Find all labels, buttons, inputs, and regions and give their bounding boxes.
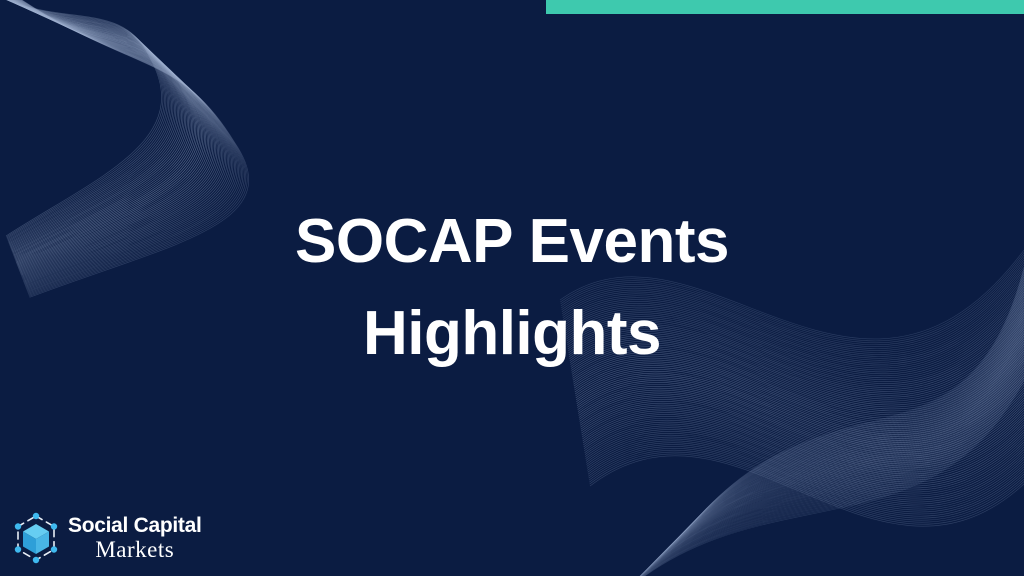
slide-canvas: SOCAP Events Highlights — [0, 0, 1024, 576]
brand-wordmark: Social Capital Markets — [68, 515, 202, 561]
brand-logo: Social Capital Markets — [12, 512, 202, 564]
title-line-2: Highlights — [0, 288, 1024, 380]
accent-bar — [546, 0, 1024, 14]
brand-name-primary: Social Capital — [68, 515, 202, 536]
hexagon-cube-logo-icon — [12, 512, 60, 564]
brand-name-secondary: Markets — [68, 538, 202, 561]
page-title: SOCAP Events Highlights — [0, 196, 1024, 380]
title-line-1: SOCAP Events — [0, 196, 1024, 288]
